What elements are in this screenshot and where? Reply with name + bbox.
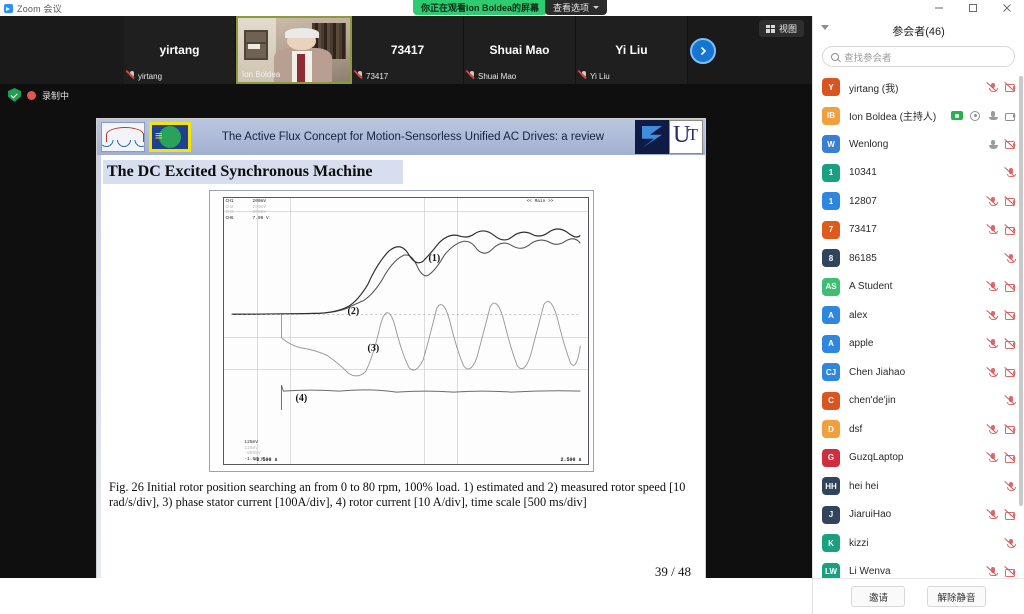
participant-row[interactable]: Kkizzi [813,529,1024,558]
participant-row[interactable]: 110341 [813,159,1024,188]
participant-name: Ion Boldea (主持人) [849,108,951,123]
mic-off-icon[interactable] [987,224,998,235]
camera-off-icon[interactable] [1005,566,1016,577]
mic-off-icon[interactable] [987,509,998,520]
participant-row[interactable]: IBIon Boldea (主持人) [813,102,1024,131]
tile-footer-name: Ion Boldea [242,70,280,79]
window-title: Zoom 会议 [17,2,62,15]
video-tile-shuai-mao[interactable]: Shuai Mao Shuai Mao [464,16,576,84]
scope-time-right: 2.500 s [560,457,581,463]
encryption-shield-icon [8,88,21,102]
participant-status-icons [1005,538,1016,549]
participant-name: chen'de'jin [849,395,1005,406]
tile-display-name: yirtang [155,43,203,57]
participant-name: kizzi [849,538,1005,549]
avatar: W [822,135,840,153]
camera-off-icon[interactable] [1005,509,1016,520]
avatar: 1 [822,192,840,210]
figure-caption: Fig. 26 Initial rotor position searching… [109,480,693,510]
oscilloscope-traces [224,198,588,464]
camera-off-icon[interactable] [1005,452,1016,463]
tile-footer: Ion Boldea [242,70,280,79]
tile-display-name: 73417 [387,43,428,57]
invite-label: 邀请 [869,590,888,604]
participant-row[interactable]: CJChen Jiahao [813,358,1024,387]
participant-row[interactable]: Cchen'de'jin [813,387,1024,416]
participant-status-icons [1005,395,1016,406]
participant-name: apple [849,338,987,349]
mic-off-icon[interactable] [987,424,998,435]
participant-name: 86185 [849,253,1005,264]
avatar: LW [822,563,840,578]
video-tile-yirtang[interactable]: yirtang yirtang [124,16,236,84]
camera-off-icon[interactable] [1005,224,1016,235]
mic-on-icon[interactable] [987,139,998,150]
participant-row[interactable]: Aalex [813,301,1024,330]
avatar: D [822,420,840,438]
recording-icon [970,111,980,121]
avatar: IB [822,107,840,125]
view-button[interactable]: 视图 [759,20,804,37]
participant-status-icons [1005,481,1016,492]
mic-off-icon [128,71,135,81]
participants-list[interactable]: Yyirtang (我)IBIon Boldea (主持人)WWenlong11… [813,73,1024,578]
participants-panel-title: 参会者(46) [892,23,945,39]
tile-footer: Shuai Mao [468,71,516,81]
participant-status-icons [987,367,1016,378]
participant-name: 10341 [849,167,1005,178]
scope-time-left: -2.500 s [254,457,278,463]
participant-name: yirtang (我) [849,80,987,95]
participant-name: GuzqLaptop [849,452,987,463]
participant-name: Li Wenva [849,566,987,577]
mic-off-icon[interactable] [987,338,998,349]
participant-row[interactable]: Yyirtang (我) [813,73,1024,102]
slide-header-band: The Active Flux Concept for Motion-Senso… [97,119,705,155]
avatar: 7 [822,221,840,239]
grid-icon [766,25,775,33]
mic-off-icon[interactable] [987,82,998,93]
close-icon[interactable] [990,0,1024,16]
view-button-label: 视图 [779,22,797,35]
institution-logo-icon [101,122,145,152]
avatar: K [822,534,840,552]
camera-off-icon[interactable] [1005,338,1016,349]
slide-band-title: The Active Flux Concept for Motion-Senso… [191,131,635,143]
camera-off-icon[interactable] [1005,82,1016,93]
tile-footer: 73417 [356,71,388,81]
shared-slide: The Active Flux Concept for Motion-Senso… [96,118,706,578]
chevron-down-icon[interactable] [821,25,829,30]
participant-row[interactable]: Ddsf [813,415,1024,444]
avatar: A [822,335,840,353]
tile-footer-name: Yi Liu [590,72,610,81]
trace-label-3: (3) [368,343,380,354]
maximize-icon[interactable] [956,0,990,16]
participant-status-icons [951,110,1016,121]
mic-off-icon[interactable] [987,281,998,292]
participant-row[interactable]: 886185 [813,244,1024,273]
search-icon [831,53,839,61]
tile-display-name: Yi Liu [611,43,651,57]
participant-status-icons [987,338,1016,349]
participant-row[interactable]: 773417 [813,216,1024,245]
view-options-button[interactable]: 查看选项 [545,0,607,15]
view-options-label: 查看选项 [553,1,589,14]
participant-status-icons [1005,253,1016,264]
tile-footer-name: Shuai Mao [478,72,516,81]
meeting-stage: yirtang yirtang Ion Boldea 73417 [0,16,812,578]
filmstrip-next-button[interactable] [690,38,716,64]
chevron-right-icon [697,45,709,57]
video-tile-ion-boldea[interactable]: Ion Boldea [236,16,352,84]
recording-dot-icon [27,91,36,100]
mic-off-icon [580,71,587,81]
invite-button[interactable]: 邀请 [851,586,905,607]
mic-off-icon [356,71,363,81]
camera-off-icon[interactable] [1005,310,1016,321]
avatar: 1 [822,164,840,182]
participant-status-icons [987,509,1016,520]
participant-name: dsf [849,424,987,435]
slide-page-number: 39 / 48 [655,564,691,578]
tile-footer-name: 73417 [366,72,388,81]
avatar: J [822,506,840,524]
mic-off-icon[interactable] [987,196,998,207]
search-input[interactable]: 查找参会者 [822,46,1015,67]
avatar: CJ [822,363,840,381]
participant-status-icons [987,139,1016,150]
unmute-all-label: 解除静音 [937,590,975,604]
participant-name: A Student [849,281,987,292]
zoom-meeting-window: Zoom 会议 你正在观看Ion Boldea的屏幕 查看选项 yirtang [0,0,1024,614]
participant-name: JiaruiHao [849,509,987,520]
participant-status-icons [987,566,1016,577]
participant-row[interactable]: LWLi Wenva [813,558,1024,579]
avatar: AS [822,278,840,296]
participant-row[interactable]: 112807 [813,187,1024,216]
avatar: 8 [822,249,840,267]
participant-status-icons [987,310,1016,321]
participant-row[interactable]: HHhei hei [813,472,1024,501]
tile-footer: yirtang [128,71,162,81]
screen-share-active-icon [951,111,963,120]
mic-off-icon [468,71,475,81]
participant-name: 12807 [849,196,987,207]
camera-off-icon[interactable] [1005,196,1016,207]
participant-name: Wenlong [849,139,987,150]
trace-label-2: (2) [348,306,360,317]
participants-scrollbar[interactable] [1019,76,1023,506]
mic-off-icon[interactable] [1005,167,1016,178]
zoom-logo-icon [4,4,13,13]
sigma-logo-icon [635,120,669,154]
participant-status-icons [1005,167,1016,178]
participant-row[interactable]: ASA Student [813,273,1024,302]
participant-status-icons [987,281,1016,292]
oscilloscope-screen: CH1 200mV CH2 200mV CH3 200mV CH6 7.00 V… [223,197,589,465]
participants-panel: 参会者(46) 查找参会者 Yyirtang (我)IBIon Boldea (… [812,16,1024,614]
figure-container: CH1 200mV CH2 200mV CH3 200mV CH6 7.00 V… [209,190,594,472]
participant-row[interactable]: Aapple [813,330,1024,359]
mic-on-icon[interactable] [987,110,998,121]
participant-row[interactable]: WWenlong [813,130,1024,159]
video-filmstrip: yirtang yirtang Ion Boldea 73417 [0,16,812,84]
camera-off-icon[interactable] [1005,367,1016,378]
recording-indicator: 录制中 [8,88,69,102]
minimize-icon[interactable] [922,0,956,16]
avatar: C [822,392,840,410]
mic-off-icon[interactable] [987,566,998,577]
mic-off-icon[interactable] [1005,253,1016,264]
participant-row[interactable]: JJiaruiHao [813,501,1024,530]
tile-footer-name: yirtang [138,72,162,81]
participants-panel-header: 参会者(46) [813,16,1024,46]
avatar: HH [822,477,840,495]
screen-share-banner: 你正在观看Ion Boldea的屏幕 [413,0,547,15]
chevron-down-icon [593,6,599,9]
slide-title: The DC Excited Synchronous Machine [103,160,403,184]
mic-off-icon[interactable] [987,367,998,378]
university-logo-icon [669,120,703,154]
avatar: G [822,449,840,467]
mic-off-icon[interactable] [987,310,998,321]
tile-footer: Yi Liu [580,71,610,81]
camera-off-icon[interactable] [1005,281,1016,292]
participant-name: Chen Jiahao [849,367,987,378]
unmute-all-button[interactable]: 解除静音 [927,586,985,607]
avatar: A [822,306,840,324]
video-tile-73417[interactable]: 73417 73417 [352,16,464,84]
camera-off-icon[interactable] [1005,424,1016,435]
participant-status-icons [987,224,1016,235]
camera-on-icon[interactable] [1005,110,1016,121]
participants-search: 查找参会者 [813,46,1024,73]
filmstrip-left-pad [0,16,124,84]
participant-status-icons [987,196,1016,207]
participant-name: alex [849,310,987,321]
department-logo-icon [149,122,191,152]
video-tile-yi-liu[interactable]: Yi Liu Yi Liu [576,16,688,84]
mic-off-icon[interactable] [987,452,998,463]
tile-display-name: Shuai Mao [485,43,553,57]
share-banner-text: 你正在观看Ion Boldea的屏幕 [421,1,539,14]
mic-off-icon[interactable] [1005,481,1016,492]
slide-left-accent [97,155,101,578]
trace-label-1: (1) [429,253,441,264]
avatar: Y [822,78,840,96]
trace-label-4: (4) [296,393,308,404]
mic-off-icon[interactable] [1005,538,1016,549]
participant-status-icons [987,424,1016,435]
camera-off-icon[interactable] [1005,139,1016,150]
participants-panel-footer: 邀请 解除静音 [813,578,1024,614]
recording-label: 录制中 [42,89,69,102]
mic-off-icon[interactable] [1005,395,1016,406]
search-placeholder: 查找参会者 [844,50,892,64]
window-controls [922,0,1024,16]
participant-status-icons [987,82,1016,93]
participant-status-icons [987,452,1016,463]
participant-name: 73417 [849,224,987,235]
participant-row[interactable]: GGuzqLaptop [813,444,1024,473]
participant-name: hei hei [849,481,1005,492]
